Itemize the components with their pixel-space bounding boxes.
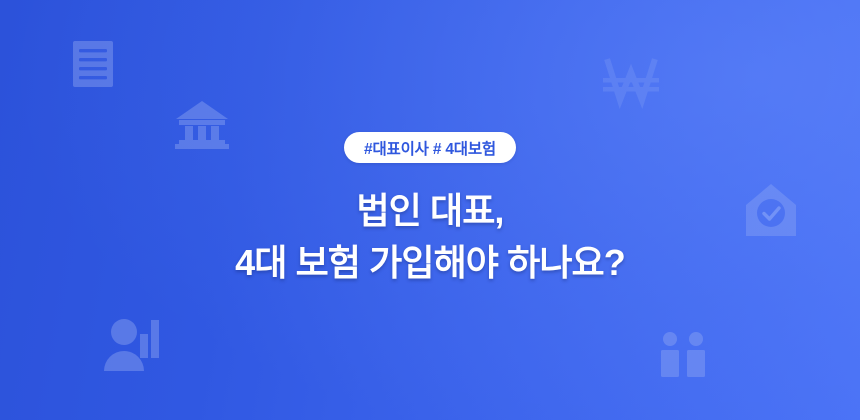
banner-content: #대표이사 # 4대보험 법인 대표, 4대 보험 가입해야 하나요? <box>0 0 860 420</box>
headline-line-2: 4대 보험 가입해야 하나요? <box>235 237 625 288</box>
page-title: 법인 대표, 4대 보험 가입해야 하나요? <box>235 185 625 287</box>
hashtag-badge: #대표이사 # 4대보험 <box>344 132 516 163</box>
promo-banner: #대표이사 # 4대보험 법인 대표, 4대 보험 가입해야 하나요? <box>0 0 860 420</box>
headline-line-1: 법인 대표, <box>235 185 625 236</box>
